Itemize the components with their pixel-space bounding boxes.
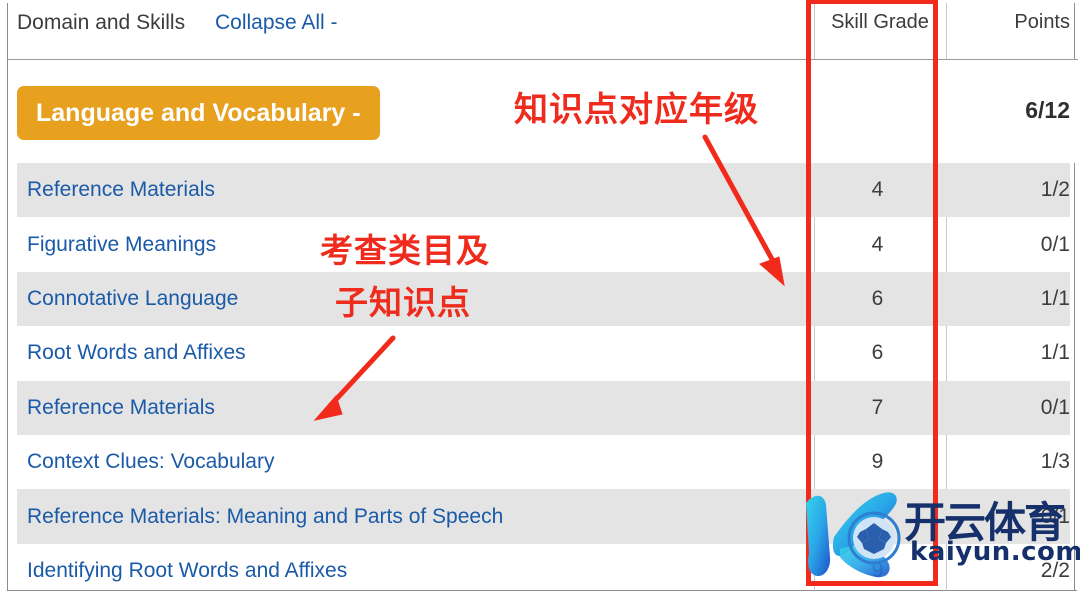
points-value: 0/1	[952, 233, 1070, 257]
annotation-label-category-line2: 子知识点	[335, 276, 471, 324]
table-row[interactable]: Reference Materials 4 1/2	[8, 163, 1078, 217]
column-header-skill-grade: Skill Grade	[820, 11, 940, 34]
skill-grade-value: 6	[815, 287, 940, 311]
skill-link[interactable]: Connotative Language	[27, 287, 238, 311]
domain-group-points: 6/12	[952, 97, 1070, 124]
points-value: 1/1	[952, 341, 1070, 365]
skill-grade-value: 4	[815, 178, 940, 202]
annotation-label-skill-grade: 知识点对应年级	[514, 82, 759, 131]
table-row[interactable]: Connotative Language 6 1/1	[8, 272, 1078, 326]
skill-link[interactable]: Identifying Root Words and Affixes	[27, 559, 347, 583]
skill-grade-value: 6	[815, 341, 940, 365]
collapse-all-link[interactable]: Collapse All -	[215, 11, 338, 35]
column-header-points: Points	[952, 11, 1070, 34]
skill-grade-value: 9	[815, 559, 940, 583]
points-value: 2/2	[952, 559, 1070, 583]
skill-link[interactable]: Reference Materials	[27, 396, 215, 420]
annotation-label-category-line1: 考查类目及	[320, 224, 490, 272]
skill-link[interactable]: Reference Materials: Meaning and Parts o…	[27, 505, 503, 529]
skill-grade-value: 9	[815, 505, 940, 529]
skill-link[interactable]: Figurative Meanings	[27, 233, 216, 257]
points-value: 0/1	[952, 505, 1070, 529]
column-header-domain-and-skills: Domain and Skills	[17, 11, 185, 35]
table-row[interactable]: Context Clues: Vocabulary 9 1/3	[8, 435, 1078, 489]
skill-grade-value: 9	[815, 450, 940, 474]
table-row[interactable]: Reference Materials 7 0/1	[8, 381, 1078, 435]
skill-link[interactable]: Root Words and Affixes	[27, 341, 246, 365]
table-row[interactable]: Figurative Meanings 4 0/1	[8, 217, 1078, 271]
table-row[interactable]: Reference Materials: Meaning and Parts o…	[8, 489, 1078, 543]
points-value: 1/1	[952, 287, 1070, 311]
table-row[interactable]: Identifying Root Words and Affixes 9 2/2	[8, 544, 1078, 594]
points-value: 0/1	[952, 396, 1070, 420]
table-row[interactable]: Root Words and Affixes 6 1/1	[8, 326, 1078, 380]
points-value: 1/3	[952, 450, 1070, 474]
table-header-row: Domain and Skills Collapse All - Skill G…	[8, 3, 1078, 60]
skill-link[interactable]: Context Clues: Vocabulary	[27, 450, 274, 474]
skill-grade-value: 7	[815, 396, 940, 420]
skill-link[interactable]: Reference Materials	[27, 178, 215, 202]
points-value: 1/2	[952, 178, 1070, 202]
domain-group-label: Language and Vocabulary -	[36, 99, 361, 128]
skill-grade-value: 4	[815, 233, 940, 257]
skill-rows-container: Reference Materials 4 1/2 Figurative Mea…	[8, 163, 1078, 594]
skill-report-panel: Domain and Skills Collapse All - Skill G…	[0, 0, 1080, 594]
domain-group-toggle-language-and-vocabulary[interactable]: Language and Vocabulary -	[17, 86, 380, 140]
